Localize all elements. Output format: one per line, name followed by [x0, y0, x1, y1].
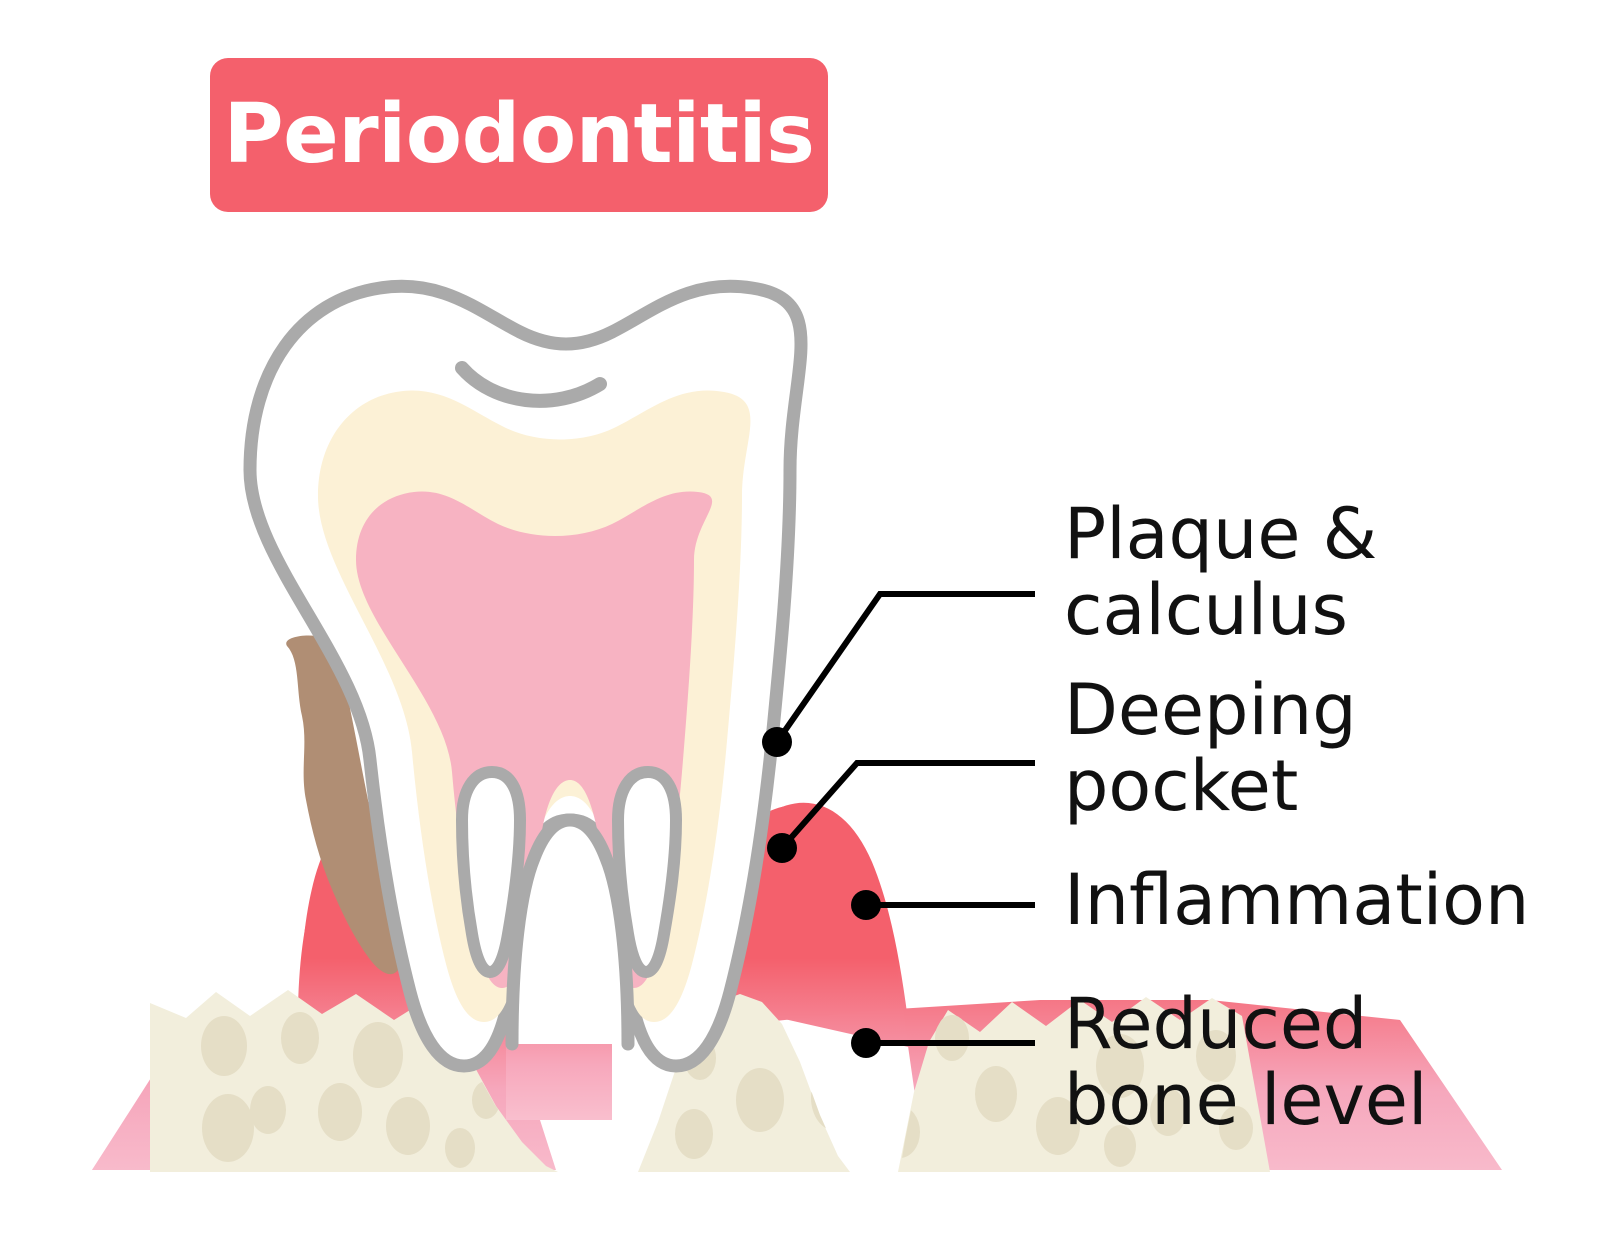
callout-label-inflammation: Inflammation — [1064, 862, 1529, 938]
dot-bone — [851, 1028, 881, 1058]
dot-pocket — [767, 833, 797, 863]
title-banner: Periodontitis — [210, 58, 828, 212]
callout-label-deeping-pocket: Deeping pocket — [1064, 672, 1357, 824]
illustration-page: Periodontitis Plaque & calculus Deeping … — [0, 0, 1600, 1236]
callout-label-plaque: Plaque & calculus — [1064, 496, 1377, 648]
page-title: Periodontitis — [224, 94, 815, 176]
dot-plaque — [762, 727, 792, 757]
root-furcation — [512, 820, 628, 1044]
dot-inflammation — [851, 890, 881, 920]
callout-label-reduced-bone-level: Reduced bone level — [1064, 986, 1427, 1138]
leader-plaque — [777, 594, 1035, 742]
